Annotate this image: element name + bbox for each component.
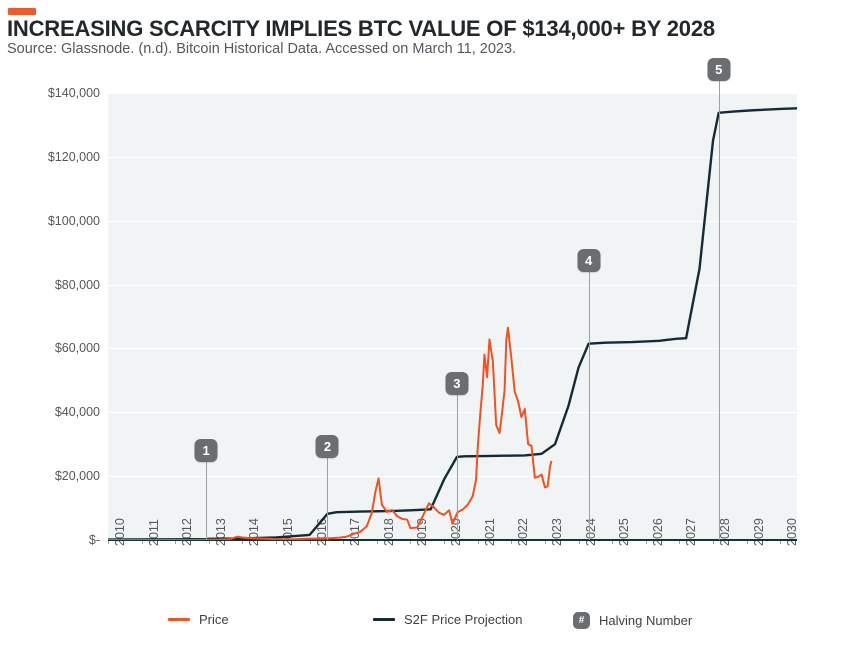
series-line-s2f-price-projection <box>108 108 797 539</box>
chart-canvas: $-$20,000$40,000$60,000$80,000$100,000$1… <box>0 0 850 656</box>
legend-label: Price <box>199 612 229 627</box>
hash-badge-icon: # <box>573 612 590 629</box>
legend-item-halving-number[interactable]: #Halving Number <box>573 612 692 629</box>
y-tick-label: $20,000 <box>8 469 100 483</box>
halving-line-1 <box>206 451 207 540</box>
y-tick-label: $40,000 <box>8 405 100 419</box>
halving-line-3 <box>457 384 458 540</box>
legend-label: S2F Price Projection <box>404 612 523 627</box>
y-tick-label: $60,000 <box>8 341 100 355</box>
halving-5-badge[interactable]: 5 <box>707 58 730 81</box>
y-tick-label: $100,000 <box>8 214 100 228</box>
halving-1-badge[interactable]: 1 <box>195 439 218 462</box>
y-tick-label: $120,000 <box>8 150 100 164</box>
y-tick-label: $140,000 <box>8 86 100 100</box>
legend-label: Halving Number <box>599 613 692 628</box>
y-tick-label: $80,000 <box>8 278 100 292</box>
y-tick-label: $- <box>8 533 100 547</box>
legend-item-price[interactable]: Price <box>168 612 229 627</box>
chart-legend: PriceS2F Price Projection#Halving Number <box>108 608 797 636</box>
halving-line-2 <box>327 447 328 540</box>
halving-2-badge[interactable]: 2 <box>316 435 339 458</box>
halving-4-badge[interactable]: 4 <box>577 249 600 272</box>
legend-item-s2f-price-projection[interactable]: S2F Price Projection <box>373 612 523 627</box>
halving-3-badge[interactable]: 3 <box>445 372 468 395</box>
series-lines <box>108 93 797 540</box>
y-axis: $-$20,000$40,000$60,000$80,000$100,000$1… <box>0 0 100 656</box>
legend-line-swatch <box>168 618 190 621</box>
legend-line-swatch <box>373 618 395 621</box>
halving-line-5 <box>719 70 720 540</box>
halving-line-4 <box>589 261 590 540</box>
